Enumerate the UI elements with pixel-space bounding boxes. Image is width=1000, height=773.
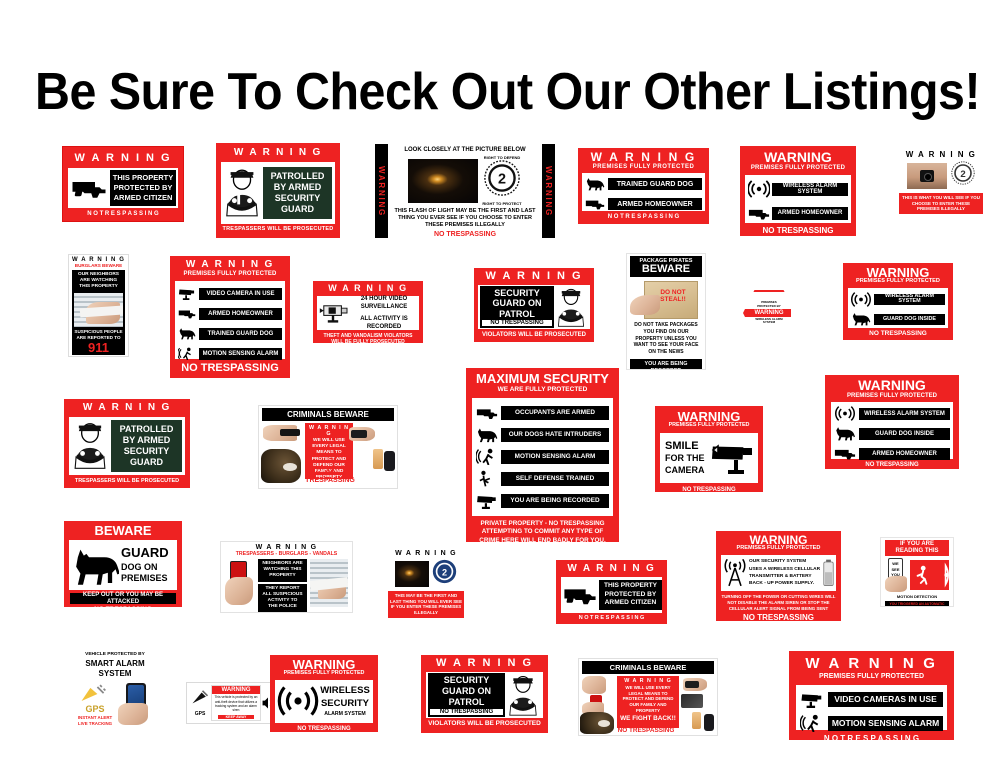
sign-subheader: PREMISES FULLY PROTECTED	[270, 671, 378, 677]
sign-video-cameras-motion-sensing[interactable]: W A R N I N G PREMISES FULLY PROTECTED V…	[789, 651, 954, 740]
sign-header: W A R N I N G	[385, 550, 467, 557]
feature-label: MOTION SENSING ALARM	[203, 351, 279, 357]
sign-trained-guard-dog-armed-homeowner[interactable]: W A R N I N G PREMISES FULLY PROTECTED T…	[578, 148, 709, 224]
hand-phone-photo	[582, 695, 608, 713]
pepper-spray-photo	[373, 449, 383, 469]
feature-label: OCCUPANTS ARE ARMED	[515, 410, 595, 417]
sign-footer: NO TRESPASSING	[613, 727, 679, 734]
sign-header: W A R N I N G	[170, 260, 290, 270]
seal-number: 2	[442, 568, 447, 578]
sign-line: THIS PROPERTY	[112, 173, 174, 183]
sign-subheader: WE ARE FULLY PROTECTED	[466, 387, 619, 394]
feature-row: MOTION SENSING ALARM	[199, 348, 282, 360]
sign-hexagon-wireless-alarm[interactable]: PREMISES PROTECTED BY WARNING WIRELESS A…	[743, 290, 791, 332]
sign-subheader: PREMISES FULLY PROTECTED	[843, 279, 953, 285]
sign-this-is-what-you-will-see[interactable]: W A R N I N G 2 THIS IS WHAT YOU WILL SE…	[893, 148, 989, 218]
sign-header: W A R N I N G	[893, 150, 989, 159]
sign-header: W A R N I N G	[64, 403, 190, 413]
feature-row: OUR DOGS HATE INTRUDERS	[501, 428, 609, 442]
sign-header: W A R N I N G	[63, 153, 183, 164]
sign-24-hour-video-surveillance[interactable]: W A R N I N G 24 HOUR VIDEO SURVEILLANCE…	[313, 281, 423, 343]
sign-footer: NO TRESPASSING	[299, 470, 361, 484]
sign-smile-for-the-camera[interactable]: WARNING PREMISES FULLY PROTECTED SMILE F…	[655, 406, 763, 492]
sign-burglars-beware-neighbors-911[interactable]: W A R N I N G BURGLARS BEWARE OUR NEIGHB…	[68, 254, 129, 357]
wireless-signal-icon	[748, 180, 770, 198]
sign-footer: YOU TRIGGERED AN AUTOMATIC ALERT AND YOU…	[885, 602, 949, 607]
dog-icon	[476, 427, 498, 443]
sign-line: ARMED CITIZEN	[112, 193, 174, 203]
gps-label: GPS	[189, 711, 211, 717]
wireless-signal-icon	[851, 292, 871, 307]
feature-row: WIRELESS ALARM SYSTEM	[772, 183, 848, 196]
hex-header: WARNING	[745, 310, 791, 316]
sign-line: PROTECTED BY	[600, 591, 661, 600]
feature-label: GUARD DOG INSIDE	[875, 431, 934, 437]
sign-line: SMART ALARM	[66, 659, 164, 669]
sign-line: SECURITY	[319, 698, 371, 710]
hand-blinds-photo	[74, 293, 123, 327]
sign-line: CAMERA	[665, 465, 710, 476]
sign-subheader: TRESPASSERS - BURGLARS - VANDALS	[221, 551, 352, 557]
sign-package-pirates-beware[interactable]: PACKAGE PIRATES BEWARE DO NOT STEAL!! DO…	[626, 253, 706, 370]
security-guard-icon	[505, 673, 541, 717]
side-warning-bar-left: WARNING	[375, 144, 388, 238]
sign-subheader: PREMISES FULLY PROTECTED	[578, 164, 709, 170]
sign-line: GUARD	[113, 457, 180, 468]
feature-label: VIDEO CAMERA IN USE	[206, 291, 274, 297]
sign-footer: NO TRESPASSING	[390, 231, 540, 238]
sign-this-may-be-the-first-and-last[interactable]: W A R N I N G 2 THIS MAY BE THE FIRST AN…	[385, 550, 467, 618]
sign-footer: NO TRESPASSING	[716, 614, 841, 621]
sign-header: W A R N I N G	[421, 658, 548, 669]
sign-line: PATROLLED	[265, 171, 330, 182]
sign-line: READING THIS	[885, 548, 949, 555]
gps-label: GPS	[78, 705, 112, 714]
sign-line: INSTANT ALERT	[78, 715, 112, 721]
sign-footer: NO TRESPASSING	[170, 363, 290, 374]
sign-line: PROPERTY	[259, 573, 306, 579]
handgun-icon	[71, 177, 107, 199]
page-title: Be Sure To Check Out Our Other Listings!	[35, 62, 965, 122]
sign-line: THE POLICE	[259, 604, 306, 610]
sign-footer: NO TRESPASSING	[893, 217, 989, 218]
motion-sensor-icon	[178, 347, 196, 360]
sign-subfooter: NO TRESPASSING	[430, 709, 503, 715]
sign-footer: KEEP AWAY	[218, 715, 254, 719]
handgun-icon	[476, 406, 498, 420]
sign-footer: NO TRESPASSING	[655, 487, 763, 492]
feature-row: WIRELESS ALARM SYSTEM	[859, 408, 950, 420]
sign-subheader: PREMISES FULLY PROTECTED	[789, 673, 954, 680]
security-guard-icon	[554, 286, 588, 328]
phone-icon: WE SEE YOU	[885, 558, 907, 592]
feature-label: GUARD DOG INSIDE	[883, 317, 936, 323]
feature-label: OUR DOGS HATE INTRUDERS	[509, 432, 602, 439]
sign-line: PROTECTED BY	[112, 183, 174, 193]
hand-phone-photo	[225, 559, 255, 607]
sign-subheader: PREMISES FULLY PROTECTED	[655, 423, 763, 429]
sign-line: SMILE	[665, 440, 710, 454]
sign-line: THIS PROPERTY	[72, 284, 125, 290]
handgun-icon	[563, 585, 597, 605]
german-shepherd-photo	[261, 449, 301, 483]
sign-line: PATROL	[430, 697, 503, 708]
sign-vehicle-smart-alarm-gps[interactable]: VEHICLE PROTECTED BY SMART ALARM SYSTEM …	[66, 650, 164, 730]
cctv-camera-icon	[319, 301, 351, 325]
sign-footer: THEFT AND VANDALISM VIOLATORS WILL BE FU…	[313, 333, 423, 343]
sign-header: MAXIMUM SECURITY	[466, 372, 619, 385]
sign-footer: NO TRESPASSING	[843, 331, 953, 338]
battery-icon	[823, 559, 834, 587]
sign-body: THIS MAY BE THE FIRST AND LAST THING YOU…	[389, 593, 463, 616]
cctv-camera-icon	[800, 691, 824, 708]
sign-footer: N O T R E S P A S S I N G	[789, 735, 954, 740]
sign-header: LOOK CLOSELY AT THE PICTURE BELOW	[390, 147, 540, 153]
muzzle-flash-photo	[408, 159, 478, 203]
hand-gun-photo	[263, 425, 297, 441]
sign-line: SUSPICIOUS PEOPLE	[72, 329, 125, 335]
sign-line: SECURITY	[430, 675, 503, 686]
feature-row: ARMED HOMEOWNER	[608, 198, 702, 210]
motion-sensor-icon	[476, 448, 498, 465]
sign-header: W A R N I N G	[556, 564, 667, 574]
sign-footer: NO TRESPASSING	[270, 726, 378, 732]
cctv-camera-icon	[476, 493, 498, 509]
sign-patrolled-armed-security-guard-1[interactable]: W A R N I N G PATROLLED BY ARMED SECURIT…	[216, 143, 340, 238]
sign-line: GUARD	[121, 546, 177, 560]
sign-line: ALL ACTIVITY IS	[351, 315, 417, 323]
dog-icon	[585, 177, 605, 191]
sign-line: THIS PROPERTY	[600, 582, 661, 591]
sign-armed-citizen-1[interactable]: W A R N I N G THIS PROPERTY PROTECTED BY…	[62, 146, 184, 222]
sign-footer: VIOLATORS WILL BE PROSECUTED	[474, 332, 594, 338]
karate-kick-icon	[476, 470, 498, 487]
side-warning-text: WARNING	[377, 166, 386, 217]
warning-bar-label: KEEP OUT OR YOU MAY BE ATTACKED	[70, 592, 176, 604]
feature-row: ARMED HOMEOWNER	[199, 308, 282, 320]
taser-photo	[683, 678, 707, 691]
sign-wireless-alarm-guard-dog-inside[interactable]: WARNING PREMISES FULLY PROTECTED WIRELES…	[843, 263, 953, 340]
dog-icon	[178, 327, 196, 340]
feature-label: ARMED HOMEOWNER	[778, 210, 843, 216]
sign-gps-vehicle-warning-small[interactable]: GPS WARNING This vehicle is protected by…	[186, 682, 278, 724]
feature-row: GUARD DOG INSIDE	[859, 428, 950, 440]
amendment-seal-icon: RIGHT TO DEFEND 2 RIGHT TO PROTECT	[482, 155, 521, 206]
security-guard-icon	[71, 420, 109, 472]
sign-security-guard-on-patrol-1[interactable]: W A R N I N G SECURITY GUARD ON PATROL N…	[474, 268, 594, 342]
sign-footer: NO TRESPASSING	[740, 227, 856, 235]
sign-line: OUR SECURITY SYSTEM	[749, 558, 823, 565]
sign-line: SECURITY	[482, 288, 552, 299]
sign-line: RECORDED	[630, 368, 702, 370]
handgun-icon	[748, 207, 770, 220]
sign-header: CRIMINALS BEWARE	[582, 663, 714, 672]
sign-subheader: PREMISES FULLY PROTECTED	[170, 271, 290, 277]
sign-cellular-transmitter-battery-backup[interactable]: WARNING PREMISES FULLY PROTECTED OUR SEC…	[716, 531, 841, 621]
sign-subheader: PREMISES FULLY PROTECTED	[740, 165, 856, 171]
sign-line: FOR THE	[665, 453, 710, 464]
sign-maximum-security[interactable]: MAXIMUM SECURITY WE ARE FULLY PROTECTED …	[466, 368, 619, 542]
sign-beware-guard-dog-on-premises[interactable]: BEWARE GUARD DOG ON PREMISES KEEP OUT OR…	[64, 521, 182, 607]
phone-photo	[384, 451, 395, 471]
sign-line: 24 HOUR VIDEO	[351, 295, 417, 303]
handgun-icon	[834, 447, 856, 460]
sign-line: BY ARMED	[265, 182, 330, 193]
feature-row: VIDEO CAMERAS IN USE	[828, 692, 943, 707]
feature-row: ARMED HOMEOWNER	[772, 207, 848, 220]
emergency-number: 911	[72, 341, 125, 354]
sign-footer: PRIVATE PROPERTY - NO TRESPASSING ATTEMP…	[466, 520, 619, 542]
sign-footer: N O T R E S P A S S I N G	[556, 616, 667, 622]
feature-row: ARMED HOMEOWNER	[859, 448, 950, 460]
feature-label: ARMED HOMEOWNER	[617, 201, 692, 208]
side-warning-bar-right: WARNING	[542, 144, 555, 238]
hex-top-text: PREMISES PROTECTED BY	[752, 301, 786, 308]
sign-line: PATROLLED	[113, 424, 180, 435]
inner-header: W A R N I N G	[306, 425, 352, 437]
phone-photo	[704, 714, 714, 731]
sign-subline: ALARM SYSTEM	[319, 711, 371, 717]
sign-line: PREMISES	[121, 573, 177, 584]
amendment-seal-icon: 2	[951, 161, 975, 190]
taser-photo	[349, 427, 375, 441]
sign-line: USES A WIRELESS CELLULAR	[749, 566, 823, 573]
feature-label: WIRELESS ALARM SYSTEM	[772, 183, 848, 195]
sign-footer: VIOLATORS WILL BE PROSECUTED	[421, 721, 548, 728]
inner-header: W A R N I N G	[619, 678, 677, 684]
sign-line: GUARD ON	[430, 686, 503, 697]
dog-icon	[71, 544, 119, 586]
german-shepherd-photo	[580, 712, 614, 734]
feature-row: MOTION SENSING ALARM	[501, 450, 609, 464]
feature-label: ARMED HOMEOWNER	[208, 311, 273, 317]
sign-premises-fully-protected-four-row[interactable]: W A R N I N G PREMISES FULLY PROTECTED V…	[170, 256, 290, 378]
hex-bottom-text: WIRELESS ALARM SYSTEM	[752, 318, 786, 325]
wireless-signal-icon	[277, 684, 319, 718]
sign-body: DO NOT TAKE PACKAGES YOU FIND ON OUR PRO…	[627, 321, 705, 357]
sign-line: BACK - UP POWER SUPPLY.	[749, 580, 823, 587]
sign-line: GUARD	[265, 204, 330, 215]
sign-header: W A R N I N G	[221, 544, 352, 551]
sign-header: CRIMINALS BEWARE	[262, 410, 394, 419]
sign-wireless-alarm-armed-homeowner[interactable]: WARNING PREMISES FULLY PROTECTED WIRELES…	[740, 146, 856, 236]
dog-icon	[851, 312, 871, 326]
feature-label: SELF DEFENSE TRAINED	[516, 476, 594, 483]
wireless-signal-icon	[834, 406, 856, 421]
sign-subheader: PREMISES FULLY PROTECTED	[825, 393, 959, 399]
feature-label: WIRELESS ALARM SYSTEM	[864, 411, 945, 417]
sign-header: W A R N I N G	[789, 656, 954, 671]
cctv-camera-icon	[178, 287, 196, 300]
sign-header: W A R N I N G	[216, 148, 340, 158]
sign-body: This vehicle is protected by an anti-the…	[212, 694, 260, 713]
feature-row: GUARD DOG INSIDE	[874, 314, 945, 325]
sign-line: DOG ON	[121, 562, 177, 573]
seal-bottom-text: RIGHT TO PROTECT	[482, 201, 521, 206]
side-warning-text: WARNING	[544, 166, 553, 217]
feature-row: MOTION SENSING ALARM	[828, 716, 943, 731]
handgun-icon	[178, 308, 196, 319]
sign-wireless-security-alarm-system[interactable]: WARNING PREMISES FULLY PROTECTED WIRELES…	[270, 655, 378, 732]
amendment-seal-icon: 2	[432, 559, 457, 589]
cell-tower-icon	[723, 559, 747, 587]
feature-row: OCCUPANTS ARE ARMED	[501, 406, 609, 420]
warning-bar: KEEP OUT OR YOU MAY BE ATTACKED	[70, 593, 176, 604]
sign-if-you-are-reading-this-motion[interactable]: IF YOU ARE READING THIS WE SEE YOU	[880, 537, 954, 607]
sign-caption: MOTION DETECTION	[881, 594, 953, 599]
muzzle-flash-photo	[395, 561, 429, 587]
sign-line: SECURITY	[113, 446, 180, 457]
sign-header: WARNING	[740, 150, 856, 164]
sign-top-label: VEHICLE PROTECTED BY	[66, 652, 164, 657]
sign-armed-citizen-2[interactable]: W A R N I N G THIS PROPERTY PROTECTED BY…	[556, 560, 667, 624]
sign-subheader: BURGLARS BEWARE	[69, 263, 128, 268]
sign-header: WARNING	[825, 378, 959, 392]
feature-label: TRAINED GUARD DOG	[617, 181, 694, 188]
sign-subfooter: NO TRESPASSING	[482, 320, 552, 326]
seal-number: 2	[960, 169, 965, 180]
baton-photo	[681, 694, 703, 708]
sign-patrolled-armed-security-guard-2[interactable]: W A R N I N G PATROLLED BY ARMED SECURIT…	[64, 399, 190, 488]
sign-neighbors-watching-report-police[interactable]: W A R N I N G TRESPASSERS - BURGLARS - V…	[220, 541, 353, 613]
sign-footer: TRESPASSERS WILL BE PROSECUTED	[216, 227, 340, 233]
sign-criminals-beware-we-fight-back[interactable]: CRIMINALS BEWARE W A R N I N G WE WILL U…	[578, 658, 718, 736]
sign-body: THIS FLASH OF LIGHT MAY BE THE FIRST AND…	[390, 208, 540, 229]
feature-label: WIRELESS ALARM SYSTEM	[874, 294, 945, 305]
motion-sensor-icon	[800, 714, 824, 732]
sign-header: W A R N I N G	[578, 151, 709, 163]
feature-label: ARMED HOMEOWNER	[872, 451, 937, 457]
sign-line: SYSTEM	[66, 669, 164, 679]
sign-wireless-guarddog-armed-homeowner[interactable]: WARNING PREMISES FULLY PROTECTED WIRELES…	[825, 375, 959, 469]
sign-footer: N O T R E S P A S S I N G	[63, 211, 183, 217]
sign-header: BEWARE	[64, 524, 182, 537]
feature-row: YOU ARE BEING RECORDED	[501, 494, 609, 508]
feature-row: VIDEO CAMERA IN USE	[199, 288, 282, 300]
pepper-spray-photo	[692, 712, 701, 729]
sign-look-closely-flash-of-light[interactable]: WARNING LOOK CLOSELY AT THE PICTURE BELO…	[375, 144, 555, 238]
sign-body: TURNING OFF THE POWER OR CUTTING WIRES W…	[716, 594, 841, 612]
smartphone-icon	[118, 683, 152, 725]
sign-line: GUARD ON	[482, 298, 552, 309]
sign-line: SECURITY	[265, 193, 330, 204]
sign-body: THIS IS WHAT YOU WILL SEE IF YOU CHOOSE …	[901, 195, 981, 212]
hexagon-badge-icon: PREMISES PROTECTED BY WARNING WIRELESS A…	[743, 290, 791, 332]
sign-header: W A R N I N G	[313, 284, 423, 293]
feature-label: TRAINED GUARD DOG	[208, 331, 274, 337]
gps-satellite-icon	[78, 683, 112, 705]
dog-icon	[834, 426, 856, 441]
hand-blinds-photo	[310, 559, 348, 607]
sign-line: PATROL	[482, 309, 552, 320]
sign-footer: TRESPASSERS WILL BE PROSECUTED	[64, 479, 190, 485]
sign-line: BY ARMED	[113, 435, 180, 446]
feature-label: MOTION SENSING ALARM	[832, 719, 939, 728]
sign-line: LIVE TRACKING	[78, 721, 112, 727]
feature-row: TRAINED GUARD DOG	[199, 328, 282, 340]
sign-header: W A R N I N G	[474, 271, 594, 282]
security-guard-icon	[223, 166, 261, 220]
feature-row: WIRELESS ALARM SYSTEM	[874, 294, 945, 305]
sign-footer: N O T R E S P A S S I N G	[578, 214, 709, 220]
svg-text:2: 2	[498, 171, 506, 187]
sign-line: ARMED CITIZEN	[600, 599, 661, 608]
feature-row: SELF DEFENSE TRAINED	[501, 472, 609, 486]
cctv-camera-icon	[710, 438, 756, 478]
sign-line: SURVEILLANCE	[351, 303, 417, 311]
sign-line: RECORDED	[351, 323, 417, 331]
sign-header: WARNING	[212, 687, 260, 693]
fist-photo	[582, 676, 606, 694]
handgun-icon	[585, 198, 605, 210]
feature-label: VIDEO CAMERAS IN USE	[834, 695, 937, 704]
feature-label: MOTION SENSING ALARM	[515, 454, 596, 461]
sign-highlight: WE FIGHT BACK!!	[619, 715, 677, 722]
sign-header: BEWARE	[630, 264, 702, 275]
feature-row: TRAINED GUARD DOG	[608, 178, 702, 190]
sign-line: IF YOU ARE	[885, 541, 949, 548]
hand-icon	[630, 295, 660, 315]
sign-criminals-beware-1[interactable]: CRIMINALS BEWARE W A R N I N G WE WILL U…	[258, 405, 398, 489]
sign-footer: NO TRESPASSING	[825, 462, 959, 468]
sign-line: TRANSMITTER & BATTERY	[749, 573, 823, 580]
sign-line: YOU ARE BEING	[630, 361, 702, 368]
feature-label: YOU ARE BEING RECORDED	[510, 498, 599, 505]
gun-pointed-photo	[907, 163, 947, 189]
sign-body-banner: THIS IS WHAT YOU WILL SEE IF YOU CHOOSE …	[899, 193, 983, 214]
sign-body: WE WILL USE EVERY LEGAL MEANS TO PROTECT…	[619, 685, 677, 714]
sign-subheader: PREMISES FULLY PROTECTED	[716, 546, 841, 552]
sign-security-guard-on-patrol-2[interactable]: W A R N I N G SECURITY GUARD ON PATROL N…	[421, 655, 548, 733]
sign-line: WIRELESS	[319, 685, 371, 697]
